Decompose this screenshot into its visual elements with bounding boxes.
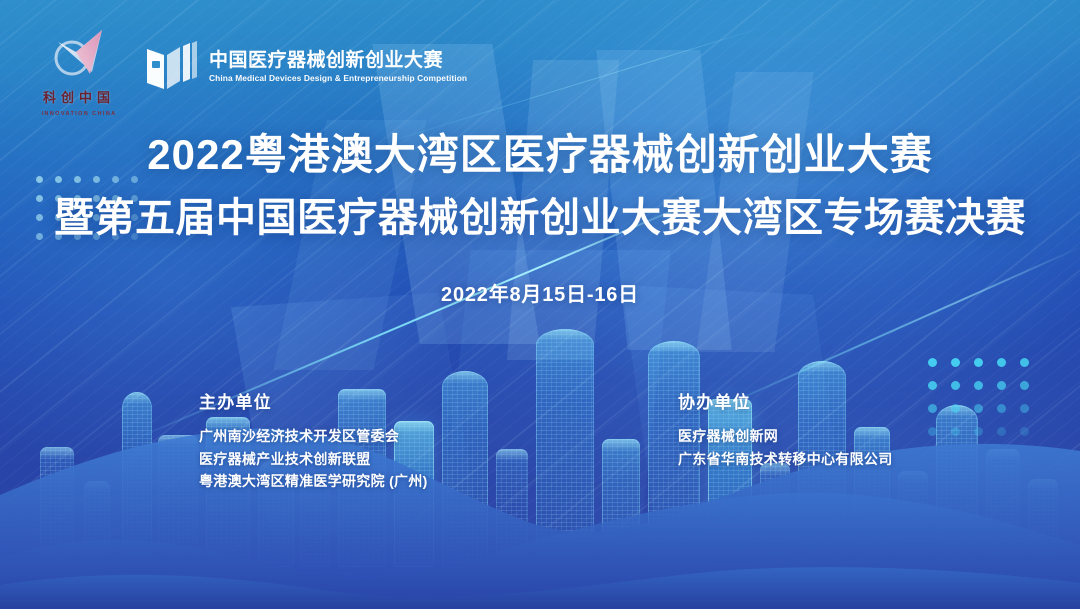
coorganizer-item: 广东省华南技术转移中心有限公司	[678, 448, 893, 471]
competition-en-title: China Medical Devices Design & Entrepren…	[209, 72, 467, 85]
innovation-china-cn-text: 科创中国	[36, 87, 122, 106]
coorganizer-item: 医疗器械创新网	[678, 425, 893, 448]
logo-bar: 科创中国 INNOVATION CHINA 中国医疗器械创新创业大赛 China…	[36, 28, 467, 106]
host-organizer-item: 粤港澳大湾区精准医学研究院 (广州)	[199, 470, 428, 493]
main-title-line-2: 暨第五届中国医疗器械创新创业大赛大湾区专场赛决赛	[0, 192, 1080, 244]
innovation-china-en-text: INNOVATION CHINA	[36, 111, 122, 117]
coorganizer-heading: 协办单位	[678, 388, 893, 413]
competition-cn-title: 中国医疗器械创新创业大赛	[209, 50, 467, 72]
competition-logo-text: 中国医疗器械创新创业大赛 China Medical Devices Desig…	[209, 50, 467, 84]
coorganizer-block: 协办单位 医疗器械创新网 广东省华南技术转移中心有限公司	[678, 388, 893, 470]
innovation-china-bird-icon	[46, 28, 112, 80]
event-poster: 科创中国 INNOVATION CHINA 中国医疗器械创新创业大赛 China…	[0, 0, 1080, 609]
host-organizer-item: 广州南沙经济技术开发区管委会	[199, 425, 428, 448]
competition-logo: 中国医疗器械创新创业大赛 China Medical Devices Desig…	[144, 41, 467, 93]
open-book-window-icon	[144, 41, 198, 93]
host-organizer-block: 主办单位 广州南沙经济技术开发区管委会 医疗器械产业技术创新联盟 粤港澳大湾区精…	[199, 388, 428, 493]
event-date: 2022年8月15日-16日	[0, 278, 1080, 307]
title-block: 2022粤港澳大湾区医疗器械创新创业大赛 暨第五届中国医疗器械创新创业大赛大湾区…	[0, 128, 1080, 307]
main-title-line-1: 2022粤港澳大湾区医疗器械创新创业大赛	[0, 128, 1080, 182]
poster-content: 科创中国 INNOVATION CHINA 中国医疗器械创新创业大赛 China…	[0, 0, 1080, 609]
host-organizer-item: 医疗器械产业技术创新联盟	[199, 448, 428, 471]
host-organizer-heading: 主办单位	[199, 388, 428, 413]
innovation-china-logo: 科创中国 INNOVATION CHINA	[36, 28, 122, 106]
